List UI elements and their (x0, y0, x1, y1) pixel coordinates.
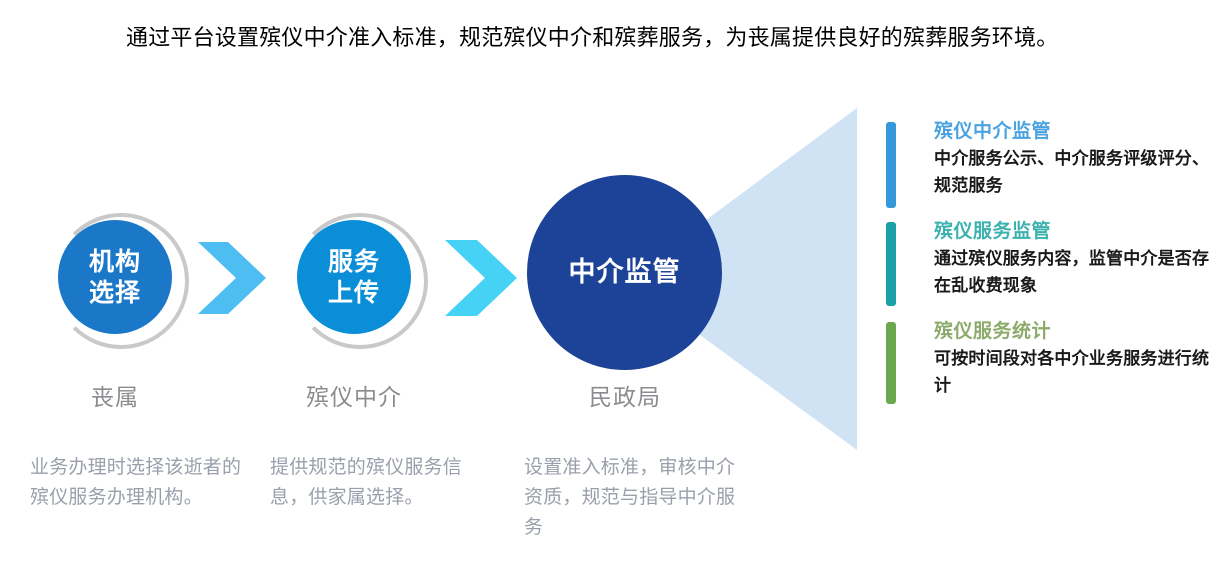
node-circle-1-text: 机构 选择 (89, 246, 141, 308)
node-circle-3-text: 中介监管 (569, 256, 681, 289)
arrow-1-icon (196, 240, 268, 316)
callout-list: 殡仪中介监管 中介服务公示、中介服务评级评分、规范服务 殡仪服务监管 通过殡仪服… (886, 118, 1216, 418)
arrow-2-icon (443, 238, 519, 318)
node-description-1: 业务办理时选择该逝者的殡仪服务办理机构。 (30, 452, 242, 512)
callout-body-3: 可按时间段对各中介业务服务进行统计 (934, 346, 1216, 400)
node-circle-2-line1: 服务 (328, 246, 380, 277)
diagram-page: 通过平台设置殡仪中介准入标准，规范殡仪中介和殡葬服务，为丧属提供良好的殡葬服务环… (0, 0, 1228, 575)
node-circle-3-line1: 中介监管 (569, 256, 681, 289)
callout-title-2: 殡仪服务监管 (934, 218, 1216, 245)
node-label-2: 殡仪中介 (287, 378, 421, 412)
node-label-1: 丧属 (58, 378, 172, 412)
node-description-3: 设置准入标准，审核中介资质，规范与指导中介服务 (524, 452, 742, 542)
callout-item-2[interactable]: 殡仪服务监管 通过殡仪服务内容，监管中介是否存在乱收费现象 (886, 218, 1216, 300)
node-circle-2-line2: 上传 (328, 277, 380, 308)
callout-title-1: 殡仪中介监管 (934, 118, 1216, 145)
node-circle-1-line1: 机构 (89, 246, 141, 277)
callout-title-3: 殡仪服务统计 (934, 318, 1216, 345)
callout-body-2: 通过殡仪服务内容，监管中介是否存在乱收费现象 (934, 246, 1216, 300)
callout-item-1[interactable]: 殡仪中介监管 中介服务公示、中介服务评级评分、规范服务 (886, 118, 1216, 200)
node-circle-3[interactable]: 中介监管 (527, 175, 722, 370)
callout-item-3[interactable]: 殡仪服务统计 可按时间段对各中介业务服务进行统计 (886, 318, 1216, 400)
node-circle-2[interactable]: 服务 上传 (297, 220, 411, 334)
callout-bar-1 (886, 122, 896, 208)
node-circle-2-text: 服务 上传 (328, 246, 380, 308)
node-circle-1-line2: 选择 (89, 277, 141, 308)
node-circle-1[interactable]: 机构 选择 (58, 220, 172, 334)
callout-body-1: 中介服务公示、中介服务评级评分、规范服务 (934, 146, 1216, 200)
callout-bar-2 (886, 222, 896, 306)
callout-bar-3 (886, 322, 896, 404)
node-description-2: 提供规范的殡仪服务信息，供家属选择。 (270, 452, 470, 512)
